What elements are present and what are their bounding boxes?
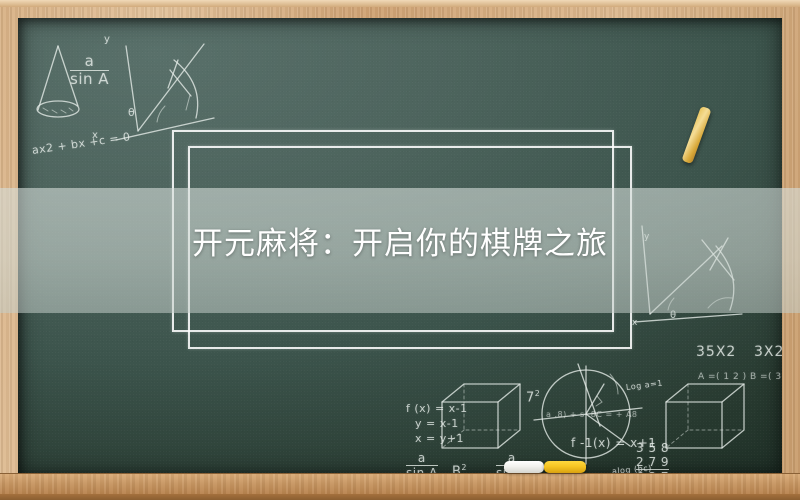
chalkboard-banner: a sin A y x θ ax2 + bx +c = 0 y x θ 35X2… [0,0,800,500]
ledge-front-edge [0,494,800,500]
frame-top-highlight [0,0,800,7]
page-title: 开元麻将：开启你的棋牌之旅 [0,226,800,263]
yellow-chalk-stick-ledge-icon [544,461,586,473]
chalk-ledge [0,473,800,500]
white-chalk-stick-icon [504,461,544,473]
